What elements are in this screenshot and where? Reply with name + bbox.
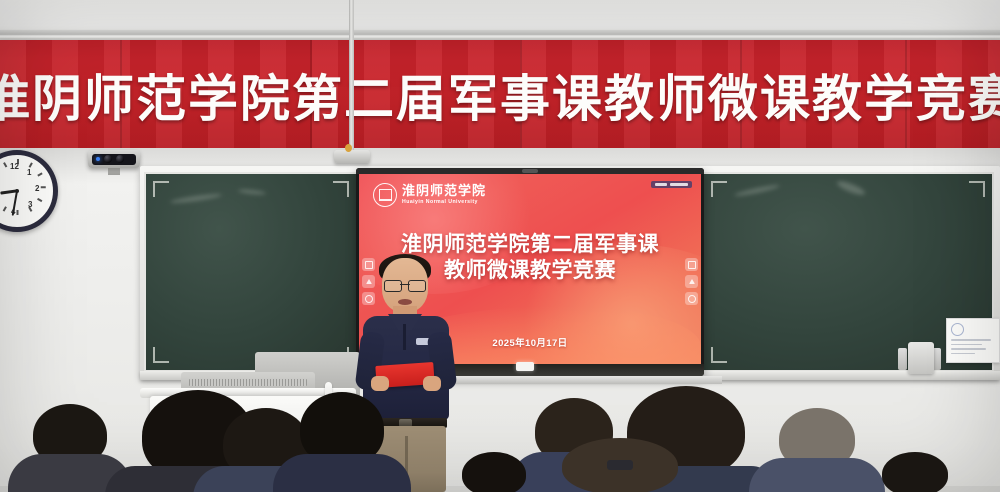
presenter-hand-left xyxy=(371,376,389,391)
slide-status-badge xyxy=(651,181,692,188)
badge-chip-icon xyxy=(670,183,688,186)
board-corner-icon xyxy=(153,181,169,197)
camera-led-icon xyxy=(96,157,100,161)
audience-member-7 xyxy=(540,438,700,492)
audience-member-9 xyxy=(860,452,970,492)
ceiling-camera-bar xyxy=(88,150,140,168)
clock-number-1: 1 xyxy=(27,168,31,177)
slide-tool-button-1[interactable] xyxy=(685,258,698,271)
board-corner-icon xyxy=(711,347,727,363)
classroom-scene: 淮阴师范学院第二届军事课教师微课教学竞赛 12 1 2 3 4 5 xyxy=(0,0,1000,492)
audience-head xyxy=(462,452,526,492)
glasses-icon xyxy=(384,280,426,290)
display-camera-icon xyxy=(522,169,538,173)
slide-tool-button-2[interactable] xyxy=(685,275,698,288)
audience-head xyxy=(882,452,948,492)
banner-text: 淮阴师范学院第二届军事课教师微课教学竞赛 xyxy=(0,40,1000,150)
board-clip-left xyxy=(898,348,907,370)
presenter-mouth xyxy=(398,299,412,305)
logo-english-name: Huaiyin Normal University xyxy=(402,200,486,205)
camera-body xyxy=(92,154,136,165)
badge-chip-icon xyxy=(655,183,667,186)
clock-center-pin xyxy=(15,189,19,193)
presenter-hand-right xyxy=(423,376,441,391)
audience-member-10 xyxy=(440,452,548,492)
slide-tool-button-3[interactable] xyxy=(685,292,698,305)
audience-member-4 xyxy=(276,392,408,492)
pole-light xyxy=(345,144,352,152)
board-corner-icon xyxy=(969,181,985,197)
notice-seal-icon xyxy=(951,323,964,336)
board-speaker xyxy=(908,342,934,374)
clock-number-3: 3 xyxy=(28,200,32,209)
board-corner-icon xyxy=(153,347,169,363)
logo-chinese-name: 淮阴师范学院 xyxy=(402,185,486,198)
clock-number-12: 12 xyxy=(10,162,19,171)
display-power-led-icon xyxy=(516,362,534,371)
hanging-pole xyxy=(349,0,354,160)
chalkboard-left xyxy=(144,172,358,372)
slide-title-line1: 淮阴师范学院第二届军事课 xyxy=(359,231,701,257)
slide-right-toolbar[interactable] xyxy=(685,258,698,305)
hair-tie xyxy=(607,460,633,470)
event-banner: 淮阴师范学院第二届军事课教师微课教学竞赛 xyxy=(0,40,1000,150)
board-corner-icon xyxy=(711,181,727,197)
monitor-vent xyxy=(189,379,307,386)
board-corner-icon xyxy=(333,181,349,197)
wall-notice-sheet xyxy=(946,318,1000,363)
pole-bracket xyxy=(334,150,370,163)
clock-number-2: 2 xyxy=(35,184,39,193)
slide-university-logo: 淮阴师范学院 Huaiyin Normal University xyxy=(373,183,486,207)
camera-lens-icon xyxy=(116,155,124,163)
presenter-placket xyxy=(403,324,406,350)
audience-body xyxy=(273,454,411,492)
university-seal-icon xyxy=(373,183,397,207)
camera-lens-icon xyxy=(104,155,112,163)
